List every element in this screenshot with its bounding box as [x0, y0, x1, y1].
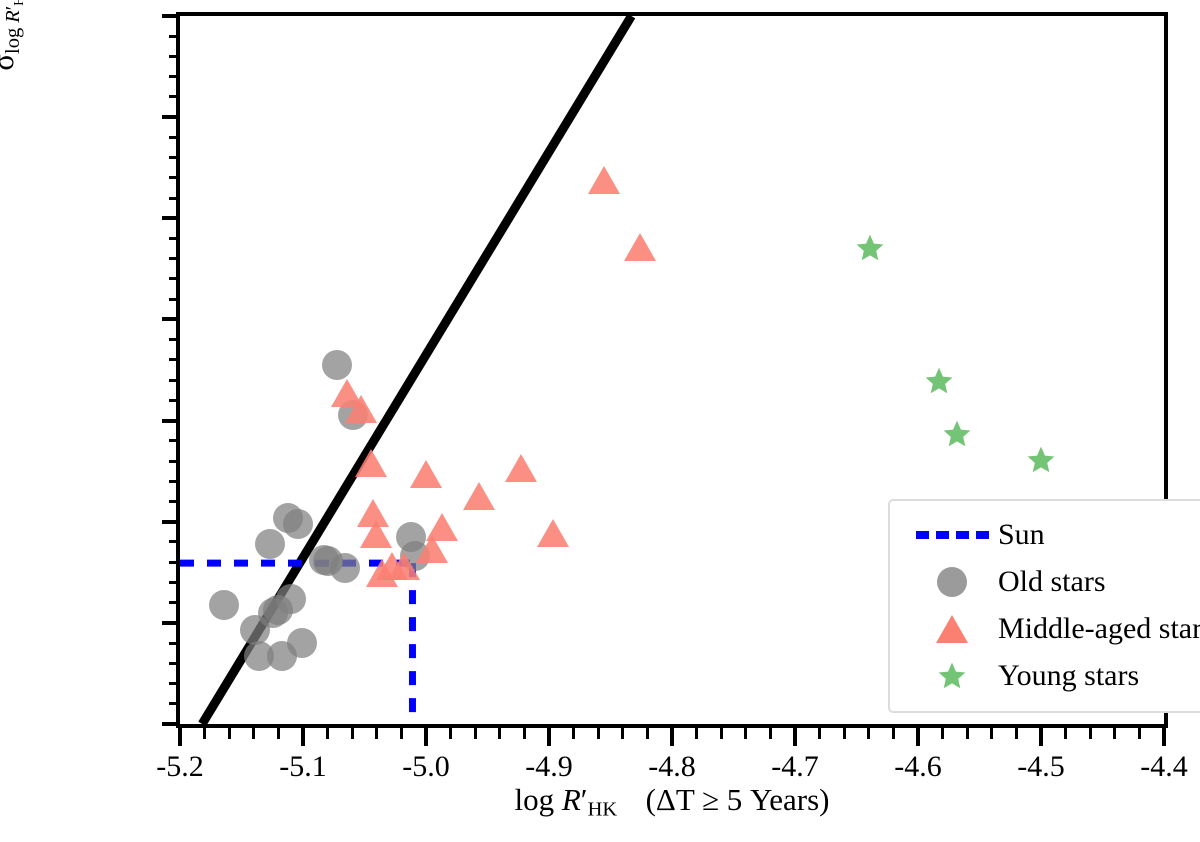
y-tick-minor: [169, 682, 180, 685]
y-tick-minor: [169, 399, 180, 402]
data-point-old-star: [255, 529, 285, 559]
x-tick-major: [424, 728, 428, 746]
x-tick-minor: [597, 728, 600, 739]
x-tick-minor: [277, 728, 280, 739]
y-tick-minor: [169, 237, 180, 240]
y-tick-minor: [169, 662, 180, 665]
x-tick-minor: [351, 728, 354, 739]
y-tick-minor: [169, 338, 180, 341]
x-tick-minor: [572, 728, 575, 739]
x-tick-minor: [449, 728, 452, 739]
x-tick-minor: [1089, 728, 1092, 739]
x-tick-label: -4.6: [858, 752, 978, 782]
y-tick-minor: [169, 277, 180, 280]
x-tick-minor: [400, 728, 403, 739]
x-tick-minor: [498, 728, 501, 739]
x-tick-major: [1162, 728, 1166, 746]
x-tick-minor: [990, 728, 993, 739]
y-tick-minor: [169, 136, 180, 139]
x-tick-label: -4.5: [981, 752, 1101, 782]
y-tick-minor: [169, 642, 180, 645]
x-tick-label: -4.7: [735, 752, 855, 782]
y-tick-major: [162, 317, 180, 321]
data-point-young-star: [925, 367, 953, 394]
legend-item-sun[interactable]: Sun: [906, 511, 1200, 558]
data-point-old-star: [287, 628, 317, 658]
x-tick-major: [793, 728, 797, 746]
x-tick-minor: [843, 728, 846, 739]
x-tick-major: [1039, 728, 1043, 746]
x-tick-major: [178, 728, 182, 746]
data-point-young-star: [943, 420, 971, 447]
x-tick-minor: [474, 728, 477, 739]
data-point-old-star: [330, 553, 360, 583]
x-tick-minor: [621, 728, 624, 739]
data-point-middle-aged-star: [355, 449, 387, 477]
y-tick-minor: [169, 197, 180, 200]
x-tick-minor: [1138, 728, 1141, 739]
y-tick-major: [162, 115, 180, 119]
data-point-middle-aged-star: [410, 460, 442, 488]
x-axis-label: log R′HK (ΔT ≥ 5 Years): [176, 782, 1168, 822]
data-point-middle-aged-star: [624, 233, 656, 261]
x-tick-minor: [203, 728, 206, 739]
legend-item-middle-aged-stars[interactable]: Middle-aged stars: [906, 605, 1200, 652]
data-point-middle-aged-star: [345, 395, 377, 423]
data-point-old-star: [209, 590, 239, 620]
x-tick-minor: [1015, 728, 1018, 739]
x-tick-label: -5.0: [366, 752, 486, 782]
y-tick-major: [162, 216, 180, 220]
y-tick-minor: [169, 358, 180, 361]
data-point-middle-aged-star: [537, 519, 569, 547]
data-point-middle-aged-star: [505, 454, 537, 482]
y-tick-major: [162, 14, 180, 18]
data-point-middle-aged-star: [463, 482, 495, 510]
x-tick-minor: [769, 728, 772, 739]
y-tick-major: [162, 520, 180, 524]
y-tick-minor: [169, 601, 180, 604]
data-point-young-star: [856, 234, 884, 261]
y-tick-minor: [169, 480, 180, 483]
y-tick-minor: [169, 540, 180, 543]
data-point-middle-aged-star: [426, 513, 458, 541]
y-tick-minor: [169, 581, 180, 584]
y-tick-minor: [169, 561, 180, 564]
triangle-marker-icon: [906, 615, 998, 643]
x-tick-minor: [818, 728, 821, 739]
x-tick-minor: [646, 728, 649, 739]
x-tick-minor: [252, 728, 255, 739]
y-tick-minor: [169, 176, 180, 179]
x-tick-label: -5.2: [120, 752, 240, 782]
figure-canvas: σlog R′HK (ΔT ≥ 5 Years) log R′HK (ΔT ≥ …: [0, 0, 1200, 842]
x-tick-label: -4.8: [612, 752, 732, 782]
y-tick-minor: [169, 95, 180, 98]
legend-item-young-stars[interactable]: Young stars: [906, 652, 1200, 699]
y-tick-minor: [169, 439, 180, 442]
data-point-young-star: [1027, 446, 1055, 473]
x-tick-major: [547, 728, 551, 746]
x-tick-label: -4.9: [489, 752, 609, 782]
data-point-middle-aged-star: [360, 520, 392, 548]
legend-label: Young stars: [998, 661, 1139, 691]
y-tick-major: [162, 722, 180, 726]
dashed-line-icon: [906, 531, 998, 539]
x-tick-minor: [695, 728, 698, 739]
y-tick-minor: [169, 500, 180, 503]
x-tick-major: [301, 728, 305, 746]
y-tick-minor: [169, 298, 180, 301]
x-tick-minor: [941, 728, 944, 739]
x-tick-label: -5.1: [243, 752, 363, 782]
y-tick-minor: [169, 156, 180, 159]
x-tick-label: -4.4: [1104, 752, 1200, 782]
x-tick-minor: [744, 728, 747, 739]
data-point-old-star: [283, 509, 313, 539]
legend-label: Old stars: [998, 567, 1106, 597]
x-tick-minor: [326, 728, 329, 739]
plot-area: 0.000.010.020.030.040.050.060.07 -5.2-5.…: [176, 12, 1168, 728]
x-tick-major: [916, 728, 920, 746]
y-tick-major: [162, 419, 180, 423]
legend-label: Middle-aged stars: [998, 614, 1200, 644]
x-tick-minor: [892, 728, 895, 739]
data-point-middle-aged-star: [588, 166, 620, 194]
x-tick-minor: [1064, 728, 1067, 739]
y-tick-minor: [169, 257, 180, 260]
x-tick-minor: [966, 728, 969, 739]
y-tick-minor: [169, 702, 180, 705]
x-tick-minor: [720, 728, 723, 739]
legend-label: Sun: [998, 520, 1045, 550]
y-axis-label: σlog R′HK (ΔT ≥ 5 Years): [0, 0, 26, 150]
legend[interactable]: SunOld starsMiddle-aged starsYoung stars: [888, 499, 1200, 713]
x-tick-minor: [228, 728, 231, 739]
x-tick-major: [670, 728, 674, 746]
y-tick-minor: [169, 75, 180, 78]
y-tick-minor: [169, 379, 180, 382]
star-marker-icon: [906, 662, 998, 689]
x-tick-minor: [1113, 728, 1116, 739]
circle-marker-icon: [906, 567, 998, 597]
data-point-old-star: [276, 584, 306, 614]
x-tick-minor: [523, 728, 526, 739]
x-tick-minor: [867, 728, 870, 739]
x-tick-minor: [375, 728, 378, 739]
y-tick-major: [162, 621, 180, 625]
data-point-middle-aged-star: [388, 552, 420, 580]
legend-item-old-stars[interactable]: Old stars: [906, 558, 1200, 605]
y-tick-minor: [169, 460, 180, 463]
y-tick-minor: [169, 35, 180, 38]
y-tick-minor: [169, 55, 180, 58]
